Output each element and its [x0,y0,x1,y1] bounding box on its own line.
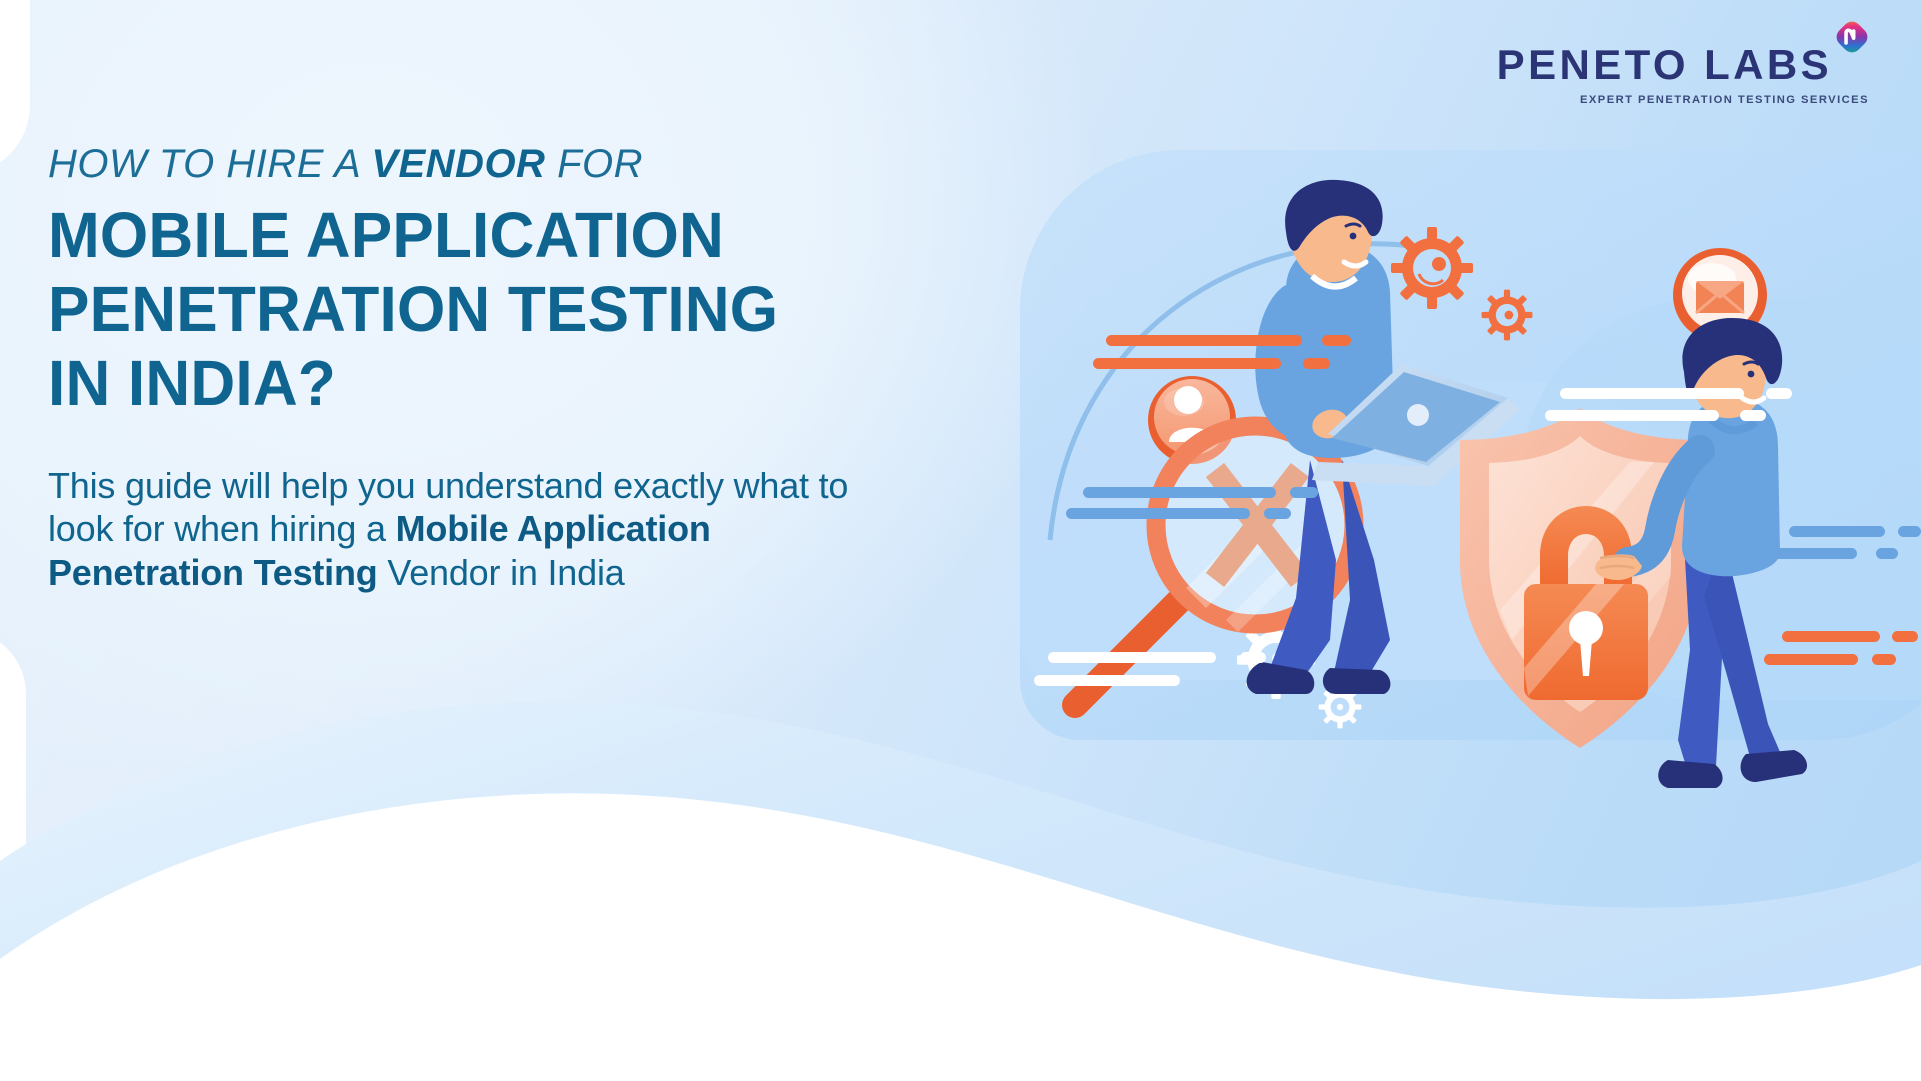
headline-line-1: MOBILE APPLICATION [48,198,853,272]
dash-blue-3 [1066,508,1250,519]
hero-copy-block: HOW TO HIRE A VENDOR FOR MOBILE APPLICAT… [48,142,878,631]
dash-blue-7 [1769,548,1857,559]
headline-line-2: PENETRATION TESTING [48,272,853,346]
dash-blue-6 [1898,526,1921,537]
dash-orange-4 [1303,358,1330,369]
eyebrow-emphasis: VENDOR [371,142,545,186]
dash-orange-3 [1093,358,1281,369]
hero-banner: PENETO LABS EXPERT PENETRATION TESTING S… [0,0,1921,1081]
dash-orange-2 [1322,335,1351,346]
hero-subcopy: This guide will help you understand exac… [48,464,878,596]
dash-blue-5 [1789,526,1885,537]
dash-white-1 [1560,388,1744,399]
page-title: MOBILE APPLICATION PENETRATION TESTING I… [48,198,853,421]
logo-tagline: EXPERT PENETRATION TESTING SERVICES [1497,94,1869,106]
dash-white-2 [1766,388,1792,399]
dash-orange-1 [1106,335,1302,346]
dash-blue-4 [1264,508,1291,519]
logo-wordmark: PENETO LABS [1497,44,1832,86]
dash-blue-1 [1083,487,1276,498]
headline-eyebrow: HOW TO HIRE A VENDOR FOR [48,142,878,186]
subcopy-part-2: Vendor in India [378,552,625,593]
brand-logo[interactable]: PENETO LABS EXPERT PENETRATION TESTING S… [1497,44,1869,106]
headline-line-3: IN INDIA? [48,346,853,420]
dash-blue-2 [1290,487,1318,498]
eyebrow-suffix: FOR [545,142,643,186]
peneto-gradient-diamond-mark [1835,20,1869,54]
eyebrow-prefix: HOW TO HIRE A [48,142,371,186]
bottom-wave-decoration [0,561,1921,1081]
dash-blue-8 [1876,548,1898,559]
dash-white-4 [1740,410,1766,421]
dash-white-3 [1545,410,1719,421]
